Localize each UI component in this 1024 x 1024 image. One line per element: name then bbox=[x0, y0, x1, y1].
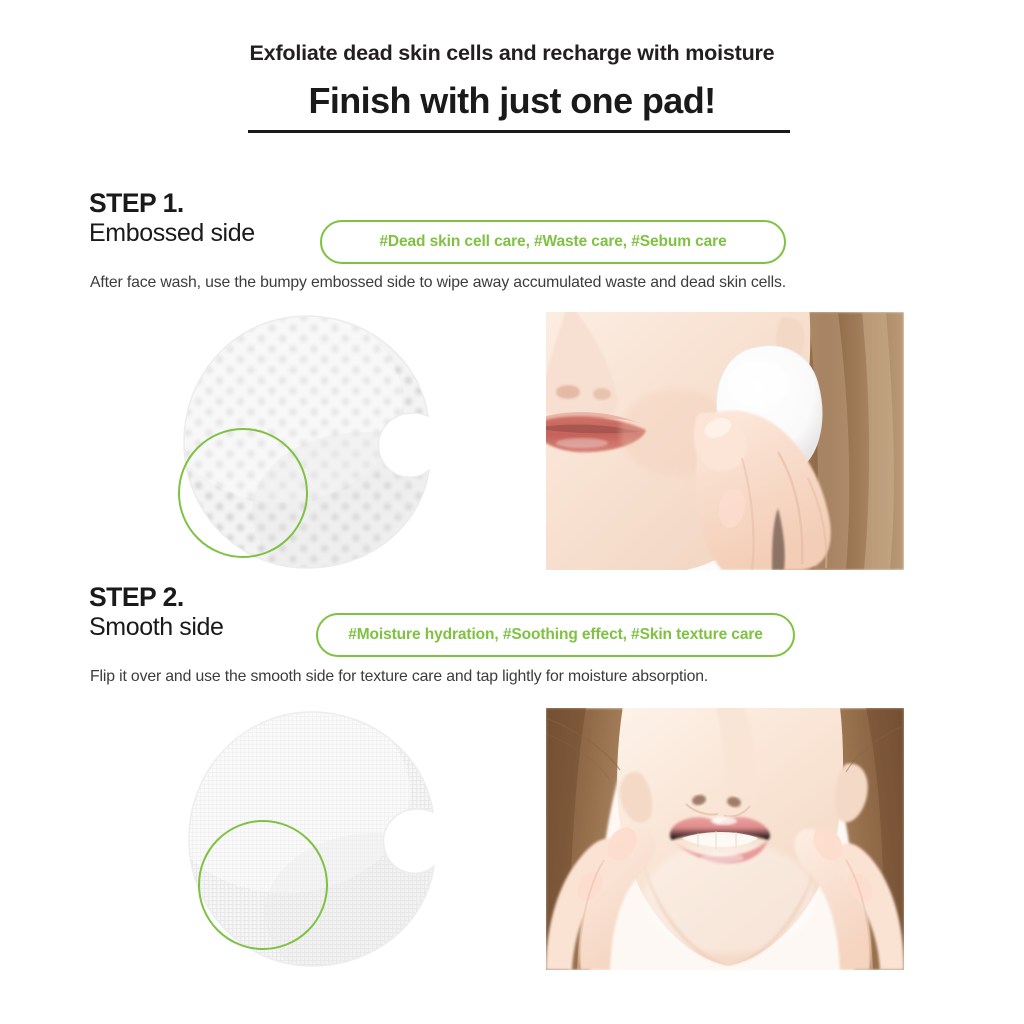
step-2-label: STEP 2. bbox=[89, 582, 184, 613]
step-1-tag-pill: #Dead skin cell care, #Waste care, #Sebu… bbox=[320, 220, 786, 264]
step-1-photo bbox=[546, 312, 904, 570]
step-1-description: After face wash, use the bumpy embossed … bbox=[90, 274, 786, 292]
woman-wiping-cheek-photo bbox=[546, 312, 904, 570]
product-instruction-infographic: Exfoliate dead skin cells and recharge w… bbox=[0, 0, 1024, 1024]
page-title: Finish with just one pad! bbox=[0, 80, 1024, 122]
step-1-magnifier-ring bbox=[178, 428, 308, 558]
step-1-tag-text: #Dead skin cell care, #Waste care, #Sebu… bbox=[379, 233, 726, 251]
step-2-tag-pill: #Moisture hydration, #Soothing effect, #… bbox=[316, 613, 795, 657]
step-1-pad-illustration bbox=[172, 312, 462, 572]
step-2-tag-text: #Moisture hydration, #Soothing effect, #… bbox=[348, 626, 763, 644]
step-2-description: Flip it over and use the smooth side for… bbox=[90, 668, 708, 686]
step-1-side-name: Embossed side bbox=[89, 219, 255, 248]
step-1-label: STEP 1. bbox=[89, 188, 184, 219]
step-2-photo bbox=[546, 708, 904, 970]
step-2-magnifier-ring bbox=[198, 820, 328, 950]
step-2-pad-illustration bbox=[180, 708, 470, 970]
woman-tapping-cheeks-photo bbox=[546, 708, 904, 970]
title-underline-rule bbox=[248, 130, 790, 133]
header-subtitle: Exfoliate dead skin cells and recharge w… bbox=[0, 41, 1024, 66]
step-2-side-name: Smooth side bbox=[89, 613, 224, 642]
